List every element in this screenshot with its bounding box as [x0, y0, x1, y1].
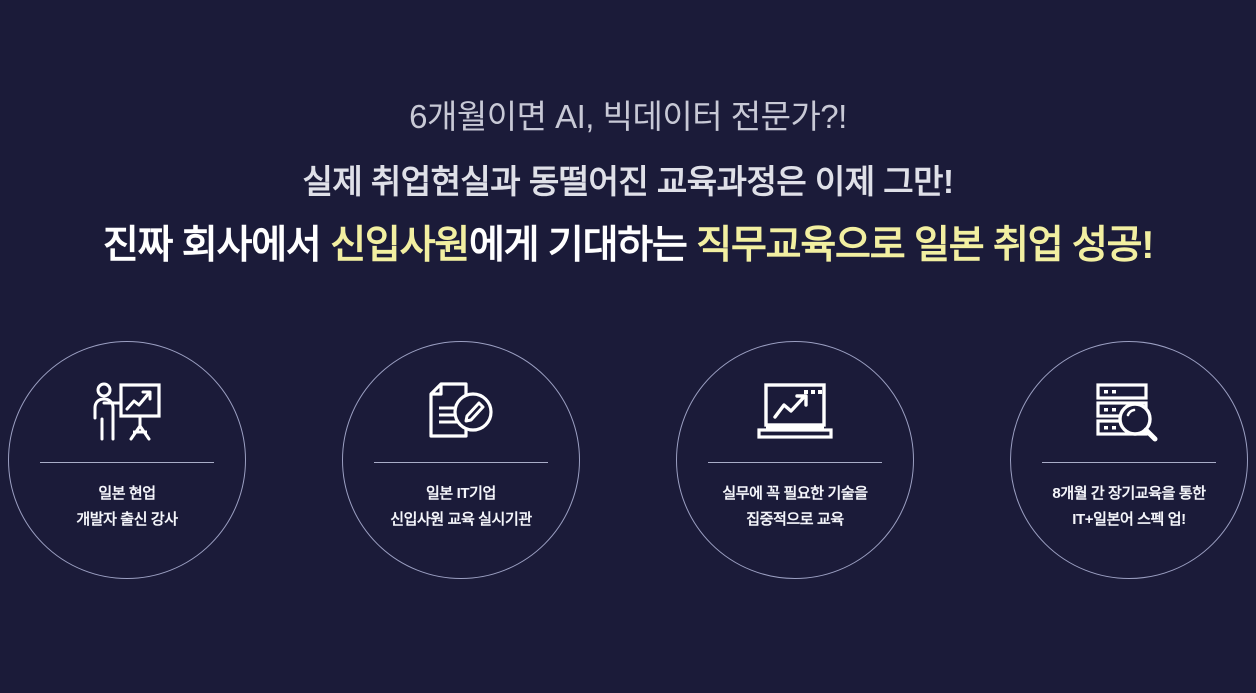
feature-line-1: 실무에 꼭 필요한 기술을 [722, 481, 867, 507]
laptop-growth-chart-icon [755, 368, 835, 456]
feature-divider [40, 462, 214, 463]
feature-divider [1042, 462, 1216, 463]
headline-subtitle: 실제 취업현실과 동떨어진 교육과정은 이제 그만! [0, 159, 1256, 205]
feature-line-2: 개발자 출신 강사 [76, 507, 177, 533]
feature-line-2: IT+일본어 스펙 업! [1052, 507, 1205, 533]
feature-text-training-institution: 일본 IT기업 신입사원 교육 실시기관 [390, 481, 532, 533]
headline-main-accent2: 직무교육으로 일본 취업 성공! [696, 224, 1153, 267]
headline-main: 진짜 회사에서 신입사원에게 기대하는 직무교육으로 일본 취업 성공! [0, 220, 1256, 272]
headline-group: 6개월이면 AI, 빅데이터 전문가?! 실제 취업현실과 동떨어진 교육과정은… [0, 94, 1256, 272]
feature-circle-training-institution: 일본 IT기업 신입사원 교육 실시기관 [342, 341, 580, 579]
server-rack-magnifier-icon [1093, 368, 1165, 456]
feature-circle-long-term-program: 8개월 간 장기교육을 통한 IT+일본어 스펙 업! [1010, 341, 1248, 579]
presenter-board-chart-icon [91, 368, 163, 456]
feature-text-instructor: 일본 현업 개발자 출신 강사 [76, 481, 177, 533]
feature-divider [708, 462, 882, 463]
headline-question: 6개월이면 AI, 빅데이터 전문가?! [0, 94, 1256, 140]
headline-main-accent1: 신입사원 [330, 224, 469, 267]
headline-main-part1: 진짜 회사에서 [103, 224, 330, 267]
promo-banner: 6개월이면 AI, 빅데이터 전문가?! 실제 취업현실과 동떨어진 교육과정은… [0, 0, 1256, 693]
feature-line-2: 신입사원 교육 실시기관 [390, 507, 532, 533]
feature-line-1: 8개월 간 장기교육을 통한 [1052, 481, 1205, 507]
feature-line-2: 집중적으로 교육 [722, 507, 867, 533]
feature-line-1: 일본 IT기업 [390, 481, 532, 507]
feature-text-practical-skills: 실무에 꼭 필요한 기술을 집중적으로 교육 [722, 481, 867, 533]
document-pencil-edit-icon [425, 368, 497, 456]
feature-circle-instructor: 일본 현업 개발자 출신 강사 [8, 341, 246, 579]
feature-circle-practical-skills: 실무에 꼭 필요한 기술을 집중적으로 교육 [676, 341, 914, 579]
feature-line-1: 일본 현업 [76, 481, 177, 507]
headline-main-part2: 에게 기대하는 [469, 224, 696, 267]
feature-divider [374, 462, 548, 463]
feature-circle-list: 일본 현업 개발자 출신 강사 일본 IT기업 신입사원 교 [0, 341, 1256, 581]
feature-text-long-term-program: 8개월 간 장기교육을 통한 IT+일본어 스펙 업! [1052, 481, 1205, 533]
